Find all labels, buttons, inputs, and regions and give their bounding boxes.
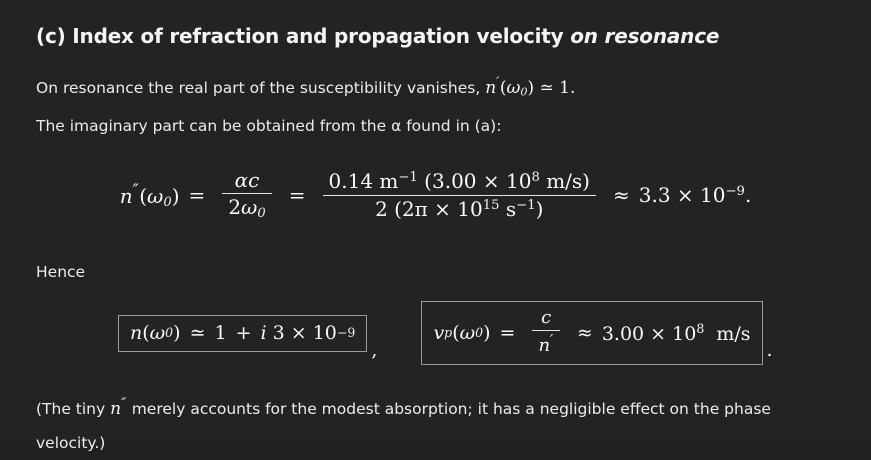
page-title: (c) Index of refraction and propagation … (36, 24, 835, 48)
paragraph-hence: Hence (36, 257, 835, 287)
boxed-result-refractive-index: n(ω0) ≃ 1 + i 3 × 10−9 (118, 315, 367, 352)
fraction-denominator: n′ (532, 331, 559, 356)
page-title-emphasis: on resonance (570, 24, 719, 48)
fraction-denominator: 2ω0 (222, 194, 271, 222)
period-after-second-box: . (767, 339, 773, 365)
fraction-c-over-n-prime: c n′ (532, 308, 559, 357)
inline-math-n-prime-omega: n′(ω0) ≃ 1. (485, 78, 575, 98)
paragraph-intro: On resonance the real part of the suscep… (36, 68, 835, 107)
paragraph-imaginary-part: The imaginary part can be obtained from … (36, 111, 835, 141)
fraction-numeric-evaluation: 0.14 m−1 (3.00 × 108 m/s) 2 (2π × 1015 s… (323, 170, 596, 220)
fraction-numerator: c (535, 308, 557, 330)
fraction-numerator: 0.14 m−1 (3.00 × 108 m/s) (323, 170, 596, 194)
equals-sign-3: = (500, 322, 516, 344)
closing-text-before: (The tiny (36, 400, 110, 418)
fraction-denominator: 2 (2π × 1015 s−1) (369, 196, 549, 220)
equals-sign-2: = (289, 183, 306, 207)
plus-sign: + (236, 322, 252, 344)
paragraph-closing-note: (The tiny n″ merely accounts for the mod… (36, 387, 835, 460)
boxed-result-phase-velocity: vp(ω0) = c n′ ≈ 3.00 × 108 m/s (421, 301, 762, 365)
paragraph-intro-text: On resonance the real part of the suscep… (36, 79, 485, 97)
boxed-results-row: n(ω0) ≃ 1 + i 3 × 10−9 , vp(ω0) = c n′ ≈… (36, 301, 835, 365)
paragraph-hence-text: Hence (36, 263, 85, 281)
fraction-alpha-c-over-2omega: αc 2ω0 (222, 169, 271, 222)
relation-simeq: ≃ (190, 322, 206, 344)
closing-text-after: merely accounts for the modest absorptio… (36, 400, 771, 452)
comma-after-first-box: , (371, 339, 377, 365)
paragraph-imaginary-part-text: The imaginary part can be obtained from … (36, 117, 501, 135)
inline-math-n-double-prime: n″ (110, 399, 127, 419)
approx-sign: ≈ (613, 183, 630, 207)
page-title-main: (c) Index of refraction and propagation … (36, 24, 570, 48)
equals-sign-1: = (189, 183, 206, 207)
equation-result: 3.3 × 10−9. (639, 183, 752, 207)
approx-sign-2: ≈ (577, 322, 593, 344)
display-equation-n-double-prime: n″(ω0) = αc 2ω0 = 0.14 m−1 (3.00 × 108 m… (36, 159, 835, 231)
fraction-numerator: αc (229, 169, 266, 193)
equation-lhs: n″(ω0) (120, 181, 180, 210)
document-page: (c) Index of refraction and propagation … (0, 0, 871, 446)
